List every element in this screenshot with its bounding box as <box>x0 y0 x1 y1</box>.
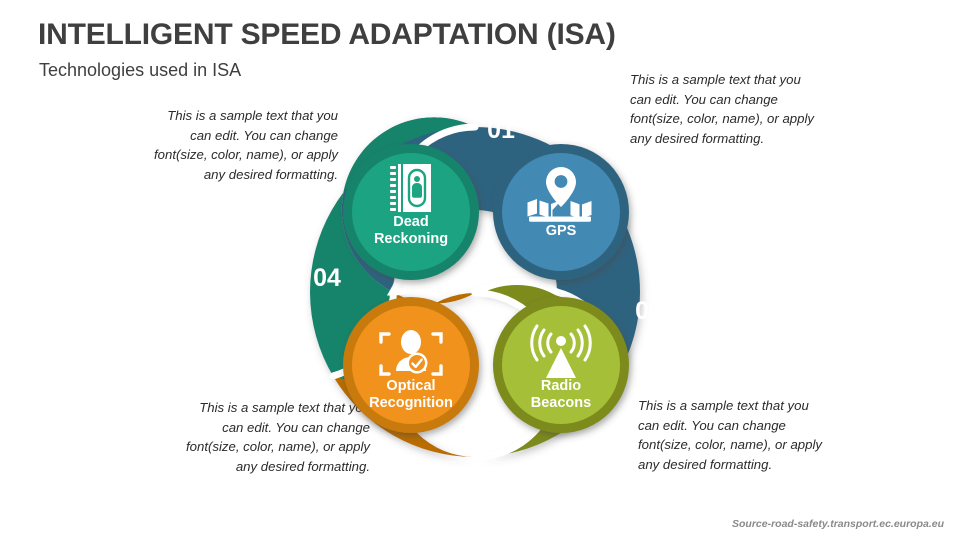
segment-number-04: 04 <box>313 264 341 292</box>
node-label-optical-recognition-line1: Optical <box>386 378 435 394</box>
source-attribution: Source-road-safety.transport.ec.europa.e… <box>732 518 944 530</box>
page-subtitle: Technologies used in ISA <box>39 60 241 81</box>
segment-number-02: 02 <box>635 297 663 325</box>
node-gps[interactable] <box>493 144 629 280</box>
node-label-optical-recognition-line2: Recognition <box>369 395 453 411</box>
node-label-radio-beacons-line1: Radio <box>541 378 581 394</box>
node-label-radio-beacons-line2: Beacons <box>531 395 591 411</box>
segment-number-01: 01 <box>487 116 515 144</box>
slide-canvas: INTELLIGENT SPEED ADAPTATION (ISA) Techn… <box>0 0 960 540</box>
segment-number-03: 03 <box>454 433 482 461</box>
node-label-dead-reckoning-line1: Dead <box>393 214 428 230</box>
page-title: INTELLIGENT SPEED ADAPTATION (ISA) <box>38 18 616 52</box>
node-label-gps: GPS <box>546 223 577 239</box>
node-label-dead-reckoning-line2: Reckoning <box>374 231 448 247</box>
pinwheel-diagram: 01 02 03 04 <box>265 80 695 500</box>
